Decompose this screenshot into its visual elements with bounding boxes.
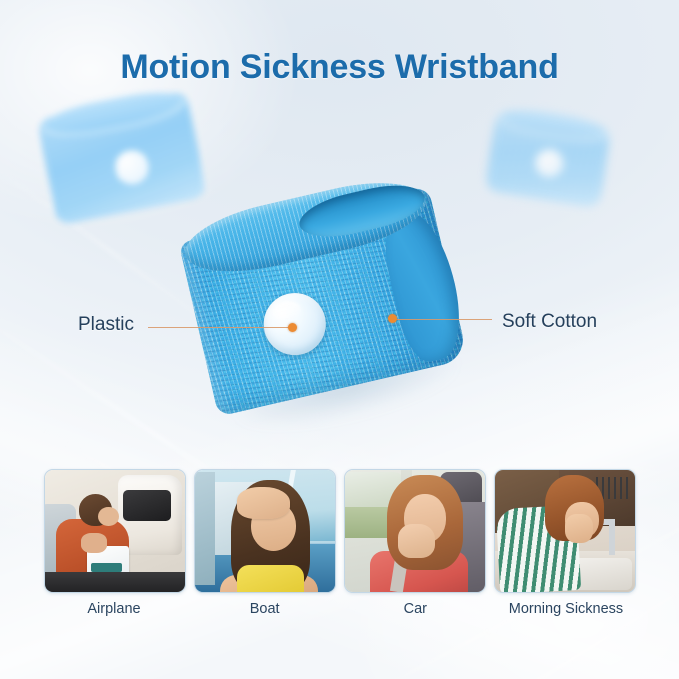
caption-morning-sickness: Morning Sickness — [496, 598, 636, 620]
page-title: Motion Sickness Wristband — [0, 48, 679, 87]
stud-highlight — [271, 299, 302, 323]
airplane-floor — [45, 572, 185, 592]
callout-leader-line-soft-cotton — [396, 319, 492, 320]
photo-boat — [195, 470, 335, 592]
boat-hull-side — [195, 472, 215, 584]
use-case-thumbnail-airplane — [44, 469, 186, 593]
use-case-thumbnail-morning-sickness — [494, 469, 636, 593]
wristband-blurred-right — [484, 109, 611, 208]
photo-airplane — [45, 470, 185, 592]
use-case-thumbnail-row — [44, 469, 636, 591]
callout-label-soft-cotton: Soft Cotton — [502, 311, 597, 333]
woman-hand-on-forehead — [237, 487, 290, 519]
infographic-canvas: Motion Sickness Wristband Plastic Soft C… — [0, 0, 679, 679]
photo-morning-sickness — [495, 470, 635, 592]
caption-boat: Boat — [195, 598, 335, 620]
passenger-hand — [81, 533, 106, 553]
callout-dot-plastic — [288, 323, 297, 332]
woman-yellow-top — [237, 565, 304, 592]
callout-leader-line-plastic — [148, 327, 295, 328]
callout-label-plastic: Plastic — [78, 314, 134, 336]
passenger-face — [98, 507, 119, 527]
caption-car: Car — [345, 598, 485, 620]
use-case-thumbnail-car — [344, 469, 486, 593]
motion-sickness-wristband — [175, 172, 472, 436]
callout-dot-soft-cotton — [388, 314, 397, 323]
photo-car — [345, 470, 485, 592]
faucet-spout — [609, 519, 615, 556]
sick-bag-band — [91, 563, 122, 573]
wristband-blurred-left — [37, 90, 207, 225]
woman-hand-over-mouth — [398, 524, 434, 558]
use-case-caption-row: Airplane Boat Car Morning Sickness — [44, 598, 636, 620]
caption-airplane: Airplane — [44, 598, 184, 620]
use-case-thumbnail-boat — [194, 469, 336, 593]
airplane-screen — [123, 490, 171, 522]
woman-hand-on-face — [565, 514, 593, 543]
